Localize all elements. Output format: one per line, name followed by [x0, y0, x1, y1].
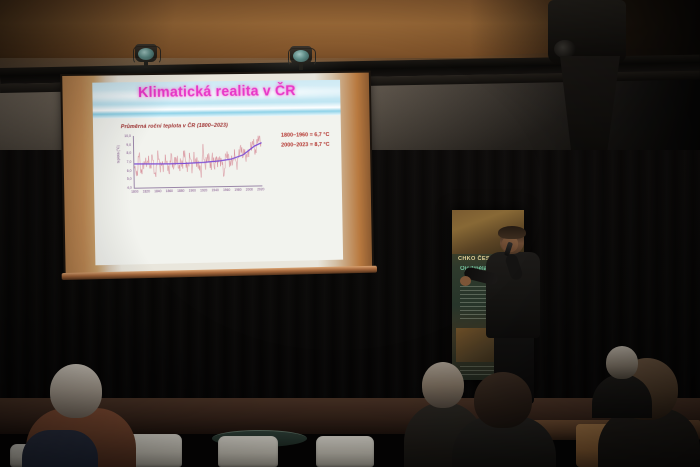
chart-x-tick: 2000: [246, 188, 253, 192]
temperature-chart: teplota (°C) 180018201840186018801900192…: [119, 132, 266, 200]
chart-y-tick: 7,0: [127, 160, 132, 164]
projection-screen: Klimatická realita v ČR Průměrná roční t…: [62, 73, 372, 281]
chart-x-tick: 1960: [223, 188, 230, 192]
chart-y-tick: 4,0: [127, 186, 132, 190]
chart-svg: [134, 134, 263, 188]
audience-member-back-right: [592, 346, 652, 416]
audience-shoulders: [592, 374, 652, 418]
chart-x-tick: 1840: [154, 189, 161, 193]
chart-x-tick: 1900: [189, 189, 196, 193]
audience-jacket: [22, 430, 98, 467]
slide-title: Klimatická realita v ČR: [92, 83, 340, 102]
slide-annotations: 1800–1960 = 6,7 °C 2000–2023 = 8,7 °C: [281, 131, 330, 151]
chart-title: Průměrná roční teplota v ČR (1800–2023): [121, 123, 228, 130]
chart-x-tick: 1980: [234, 188, 241, 192]
chart-y-tick: 10,0: [124, 134, 131, 138]
chart-x-tick: 2020: [257, 187, 264, 191]
chair-2: [218, 436, 278, 467]
chart-x-tick: 1940: [212, 188, 219, 192]
audience-member-dark-hair: [452, 372, 556, 467]
audience-head: [606, 346, 638, 379]
chart-x-tick: 1800: [131, 190, 138, 194]
chart-x-tick: 1860: [166, 189, 173, 193]
chart-y-tick: 8,0: [126, 151, 131, 155]
chart-x-tick: 1880: [177, 189, 184, 193]
lecture-hall-photo: Klimatická realita v ČR Průměrná roční t…: [0, 0, 700, 467]
presenter-hair: [498, 226, 526, 239]
chart-plot-area: 1800182018401860188019001920194019601980…: [133, 134, 263, 189]
chart-y-tick: 5,0: [127, 177, 132, 181]
presenter-hand: [460, 276, 471, 286]
audience-member-front-left: [26, 364, 136, 467]
chart-y-axis-label: teplota (°C): [116, 134, 121, 174]
audience-head: [474, 372, 532, 428]
chart-y-tick: 6,0: [127, 169, 132, 173]
stage-spotlight-icon-left: [133, 44, 159, 66]
annotation-period-1: 1800–1960 = 6,7 °C: [281, 131, 330, 141]
chair-3: [316, 436, 374, 467]
chart-y-tick: 9,0: [126, 143, 131, 147]
chart-x-tick: 1920: [200, 188, 207, 192]
projector-lens-icon: [554, 40, 576, 58]
chart-x-tick: 1820: [143, 189, 150, 193]
stage-spotlight-icon: [288, 46, 314, 68]
ceiling-projector: [548, 0, 626, 64]
presentation-slide: Klimatická realita v ČR Průměrná roční t…: [92, 80, 343, 265]
audience-head: [50, 364, 102, 418]
annotation-period-2: 2000–2023 = 8,7 °C: [281, 141, 330, 151]
